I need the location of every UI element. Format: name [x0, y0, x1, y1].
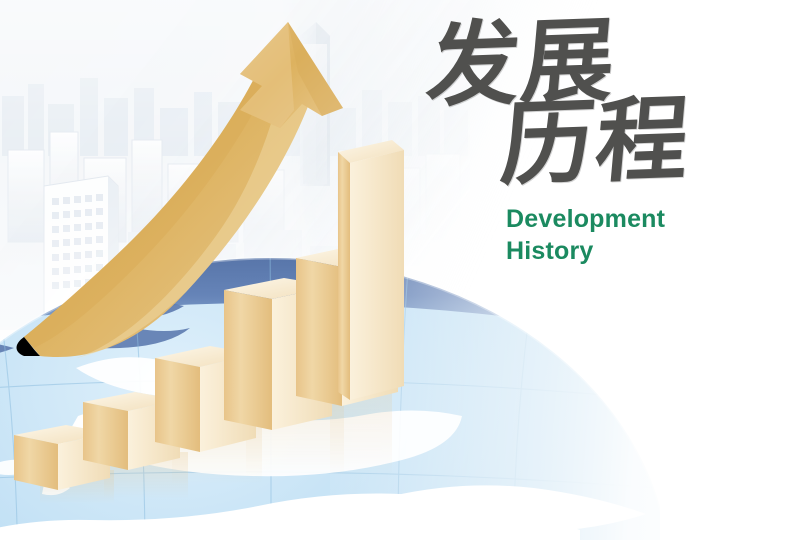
development-history-banner: 发展 历程 Development History	[0, 0, 800, 540]
heading-block: 发展 历程 Development History	[424, 18, 724, 267]
english-title-line-1: Development	[506, 203, 724, 235]
english-title: Development History	[506, 203, 724, 267]
calligraphy-line-2: 历程	[498, 94, 729, 190]
bar-6	[338, 140, 404, 400]
english-title-line-2: History	[506, 235, 724, 267]
